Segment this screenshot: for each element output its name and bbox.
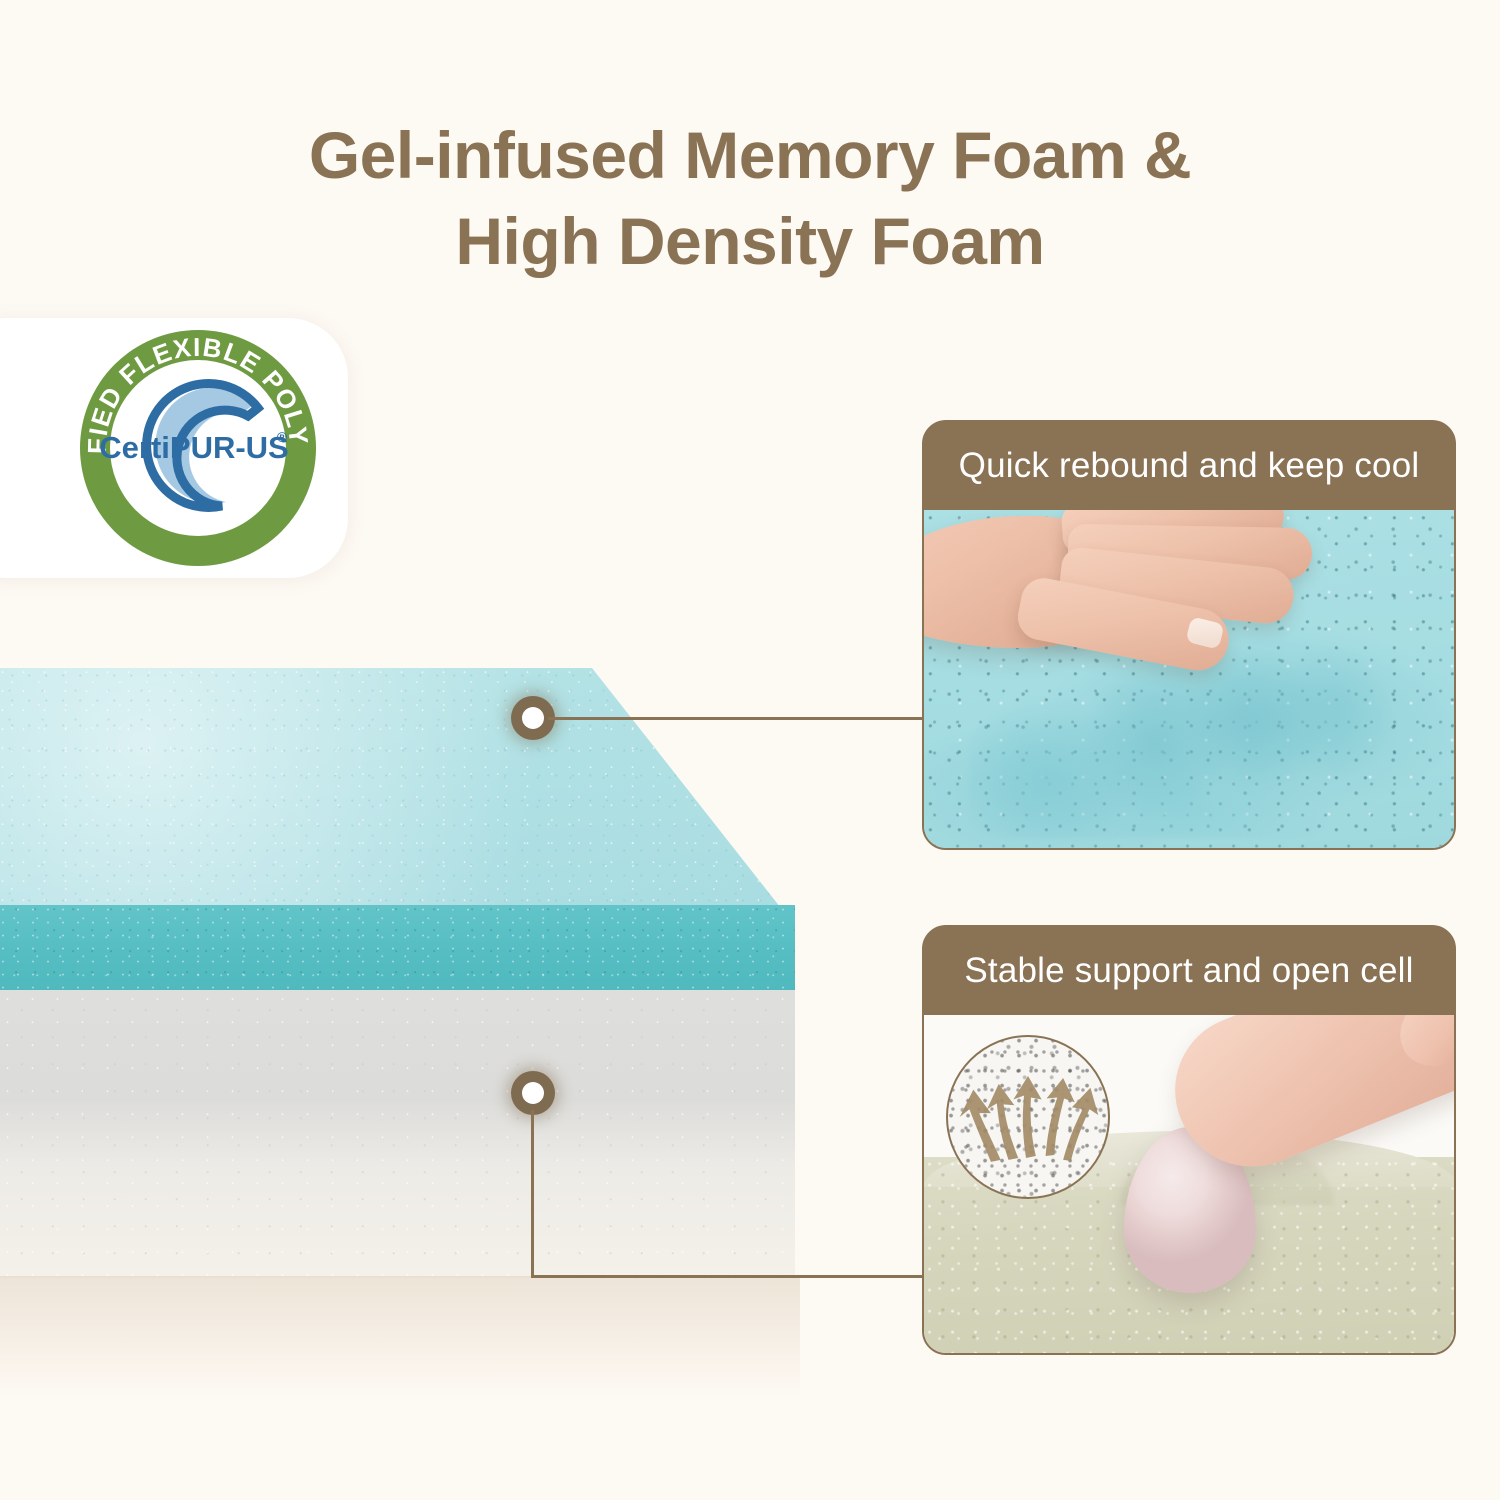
page-title: Gel-infused Memory Foam & High Density F…: [0, 112, 1500, 284]
badge-brand-text: CertiPUR-US: [99, 430, 288, 465]
hand-illustration: [924, 510, 1332, 678]
foam-drop-shadow: [0, 1276, 800, 1396]
fingertip-shape: [1385, 1015, 1454, 1082]
certipur-us-badge: CONTAINS CERTIFIED FLEXIBLE POLYURETHANE…: [76, 326, 320, 570]
feature-card-header: Quick rebound and keep cool: [924, 422, 1454, 510]
page-title-line-1: Gel-infused Memory Foam &: [0, 112, 1500, 198]
badge-registered-mark: ®: [277, 429, 288, 445]
callout-line-bottom-vertical: [531, 1110, 534, 1278]
callout-marker-bottom[interactable]: [511, 1071, 555, 1115]
callout-marker-core: [522, 707, 544, 729]
memory-foam-handprint-photo: [924, 510, 1454, 848]
gel-memory-foam-edge: [0, 905, 795, 991]
callout-line-bottom-horizontal: [531, 1275, 924, 1278]
feature-card-header: Stable support and open cell: [924, 927, 1454, 1015]
feature-card-quick-rebound[interactable]: Quick rebound and keep cool: [922, 420, 1456, 850]
open-cell-airflow-inset: [946, 1035, 1110, 1199]
callout-marker-core: [522, 1082, 544, 1104]
feature-card-stable-support[interactable]: Stable support and open cell: [922, 925, 1456, 1355]
page-title-line-2: High Density Foam: [0, 198, 1500, 284]
callout-line-top: [548, 717, 924, 720]
support-foam-egg-photo: [924, 1015, 1454, 1353]
high-density-foam-layer: [0, 990, 795, 1278]
infographic-page: Gel-infused Memory Foam & High Density F…: [0, 0, 1500, 1500]
foam-block-diagram: [0, 630, 810, 1370]
